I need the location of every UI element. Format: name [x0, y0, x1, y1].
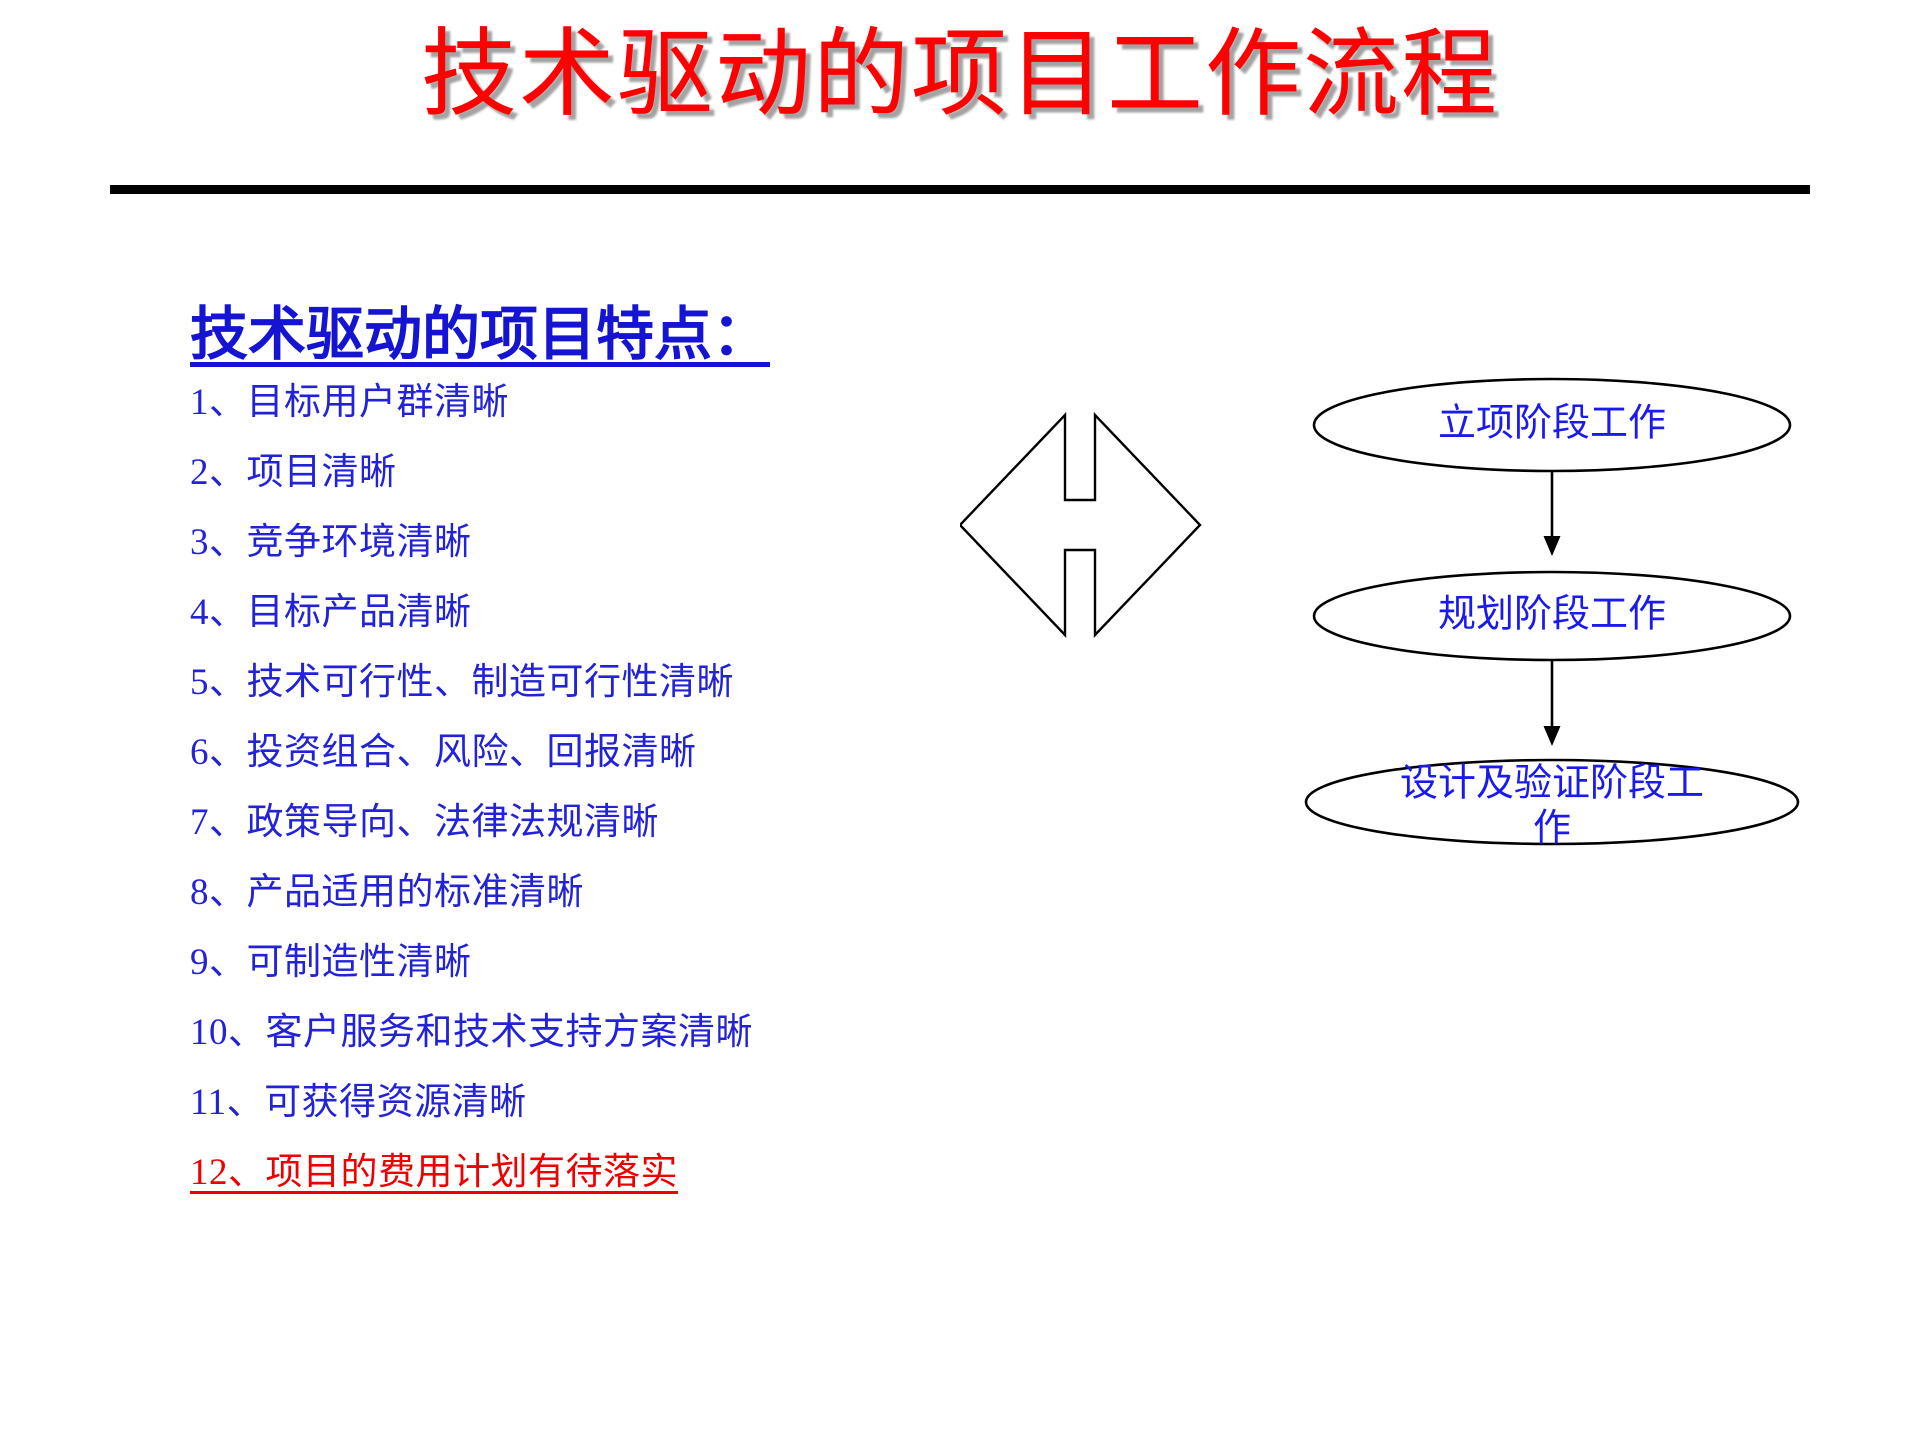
features-list: 1、目标用户群清晰 2、项目清晰 3、竞争环境清晰 4、目标产品清晰 5、技术可…	[0, 384, 980, 1191]
list-item: 11、可获得资源清晰	[190, 1084, 980, 1121]
list-item: 2、项目清晰	[190, 454, 980, 491]
arrow-stage1-to-stage2	[1544, 471, 1561, 556]
project-phase-flow-diagram: 立项阶段工作 规划阶段工作 设计及验证阶段工 作	[960, 360, 1920, 880]
stage-3-label-line1: 设计及验证阶段工	[1400, 763, 1704, 805]
list-item: 9、可制造性清晰	[190, 944, 980, 981]
list-item: 8、产品适用的标准清晰	[190, 874, 980, 911]
stage-2-label: 规划阶段工作	[1438, 594, 1666, 636]
stage-3-label-line2: 作	[1533, 808, 1571, 850]
list-item: 1、目标用户群清晰	[190, 384, 980, 421]
list-item: 4、目标产品清晰	[190, 594, 980, 631]
list-item: 10、客户服务和技术支持方案清晰	[190, 1014, 980, 1051]
list-item: 7、政策导向、法律法规清晰	[190, 804, 980, 841]
list-item: 6、投资组合、风险、回报清晰	[190, 734, 980, 771]
chevron-right-arrow	[960, 415, 1200, 635]
stage-1-label: 立项阶段工作	[1438, 403, 1666, 445]
list-item: 5、技术可行性、制造可行性清晰	[190, 664, 980, 701]
features-section: 技术驱动的项目特点： 1、目标用户群清晰 2、项目清晰 3、竞争环境清晰 4、目…	[0, 300, 980, 1224]
features-heading: 技术驱动的项目特点：	[190, 300, 770, 370]
title-divider-rule	[110, 185, 1810, 194]
list-item-highlight: 12、项目的费用计划有待落实	[190, 1154, 980, 1191]
page-title: 技术驱动的项目工作流程	[0, 18, 1920, 131]
arrow-stage2-to-stage3	[1544, 660, 1561, 746]
list-item: 3、竞争环境清晰	[190, 524, 980, 561]
